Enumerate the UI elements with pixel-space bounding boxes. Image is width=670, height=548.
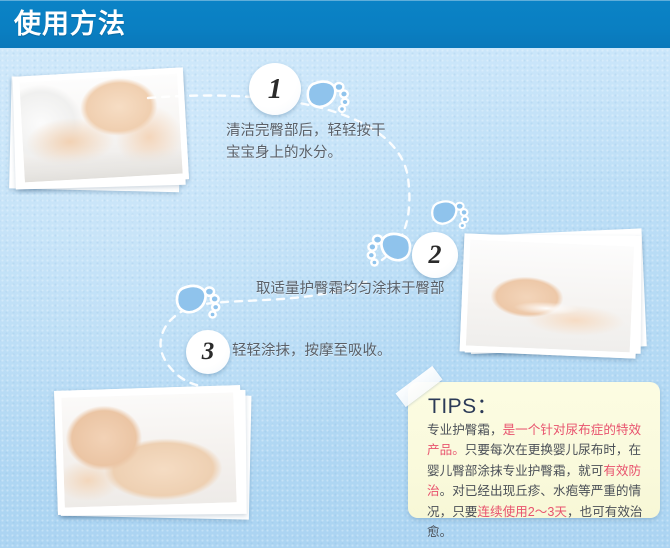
step-text-2: 取适量护臀霜均匀涂抹于臀部 <box>256 278 516 300</box>
photo-image <box>19 74 182 183</box>
page-title: 使用方法 <box>14 8 126 40</box>
step-number-2: 2 <box>412 232 458 278</box>
tips-body: 专业护臀霜，是一个针对尿布症的特效产品。只要每次在更换婴儿尿布时，在婴儿臀部涂抹… <box>427 420 645 542</box>
step-text-3: 轻轻涂抹，按摩至吸收。 <box>232 340 452 362</box>
usage-instructions-page: 使用方法 <box>0 0 670 548</box>
tips-segment-0: 专业护臀霜， <box>427 423 503 437</box>
step-text-1: 清洁完臀部后，轻轻按干 宝宝身上的水分。 <box>226 120 456 165</box>
tips-title: TIPS： <box>428 390 498 420</box>
tips-segment-5: 连续使用2～3天 <box>477 505 567 519</box>
step-number-3: 3 <box>186 330 230 374</box>
footprint-icon-3 <box>363 228 415 272</box>
photo-image <box>61 392 236 507</box>
footprint-icon-1 <box>303 76 353 118</box>
header-bar: 使用方法 <box>0 0 670 48</box>
tips-box: TIPS： 专业护臀霜，是一个针对尿布症的特效产品。只要每次在更换婴儿尿布时，在… <box>408 382 660 518</box>
photo-massage-absorb <box>54 385 244 515</box>
footprint-icon-4 <box>172 280 224 324</box>
photo-baby-massage <box>13 67 189 188</box>
footprint-icon-2 <box>428 196 472 234</box>
step-number-1: 1 <box>249 63 301 115</box>
